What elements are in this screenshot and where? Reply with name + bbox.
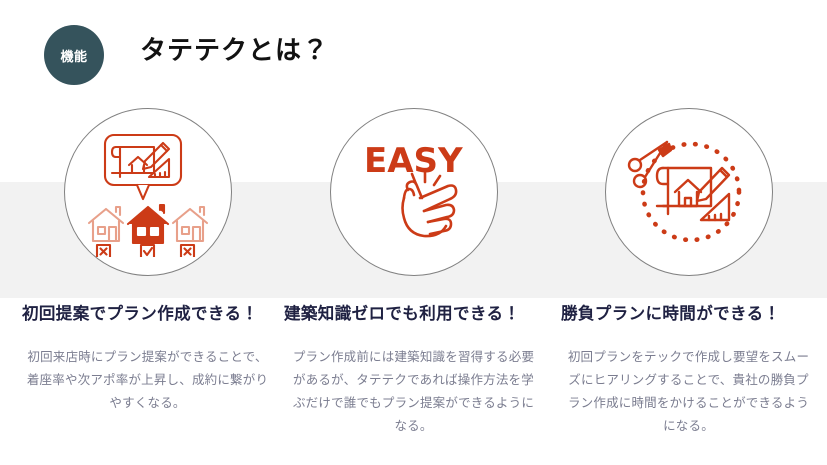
feature-column-2: EASY (276, 100, 551, 460)
time-saving-blueprint-icon (605, 108, 773, 276)
feature-title-2: 建築知識ゼロでも利用できる！ (276, 300, 551, 324)
feature-body-3: 初回プランをテックで作成し要望をスムーズにヒアリングすることで、貴社の勝負プラン… (565, 345, 812, 438)
feature-body-1: 初回来店時にプラン提案ができることで、着座率や次アポ率が上昇し、成約に繋がりやす… (24, 345, 271, 414)
slide-root: 機能 タテテクとは？ (0, 0, 827, 465)
page-title: タテテクとは？ (140, 30, 329, 67)
feature-column-3: 勝負プランに時間ができる！ 初回プランをテックで作成し要望をスムーズにヒアリング… (551, 100, 826, 460)
feature-icon-wrap-2: EASY (330, 108, 498, 276)
feature-title-1: 初回提案でプラン作成できる！ (10, 300, 285, 324)
feature-icon-wrap-3 (605, 108, 773, 276)
feature-title-3: 勝負プランに時間ができる！ (551, 300, 826, 324)
slide-header: 機能 タテテクとは？ (0, 0, 827, 100)
feature-column-1: 初回提案でプラン作成できる！ 初回来店時にプラン提案ができることで、着座率や次ア… (10, 100, 285, 460)
plan-proposal-icon (64, 108, 232, 276)
feature-icon-wrap-1 (64, 108, 232, 276)
feature-body-2: プラン作成前には建築知識を習得する必要があるが、タテテクであれば操作方法を学ぶだ… (290, 345, 537, 438)
section-badge: 機能 (44, 25, 104, 85)
easy-hand-tap-icon: EASY (330, 108, 498, 276)
section-badge-label: 機能 (60, 46, 87, 65)
